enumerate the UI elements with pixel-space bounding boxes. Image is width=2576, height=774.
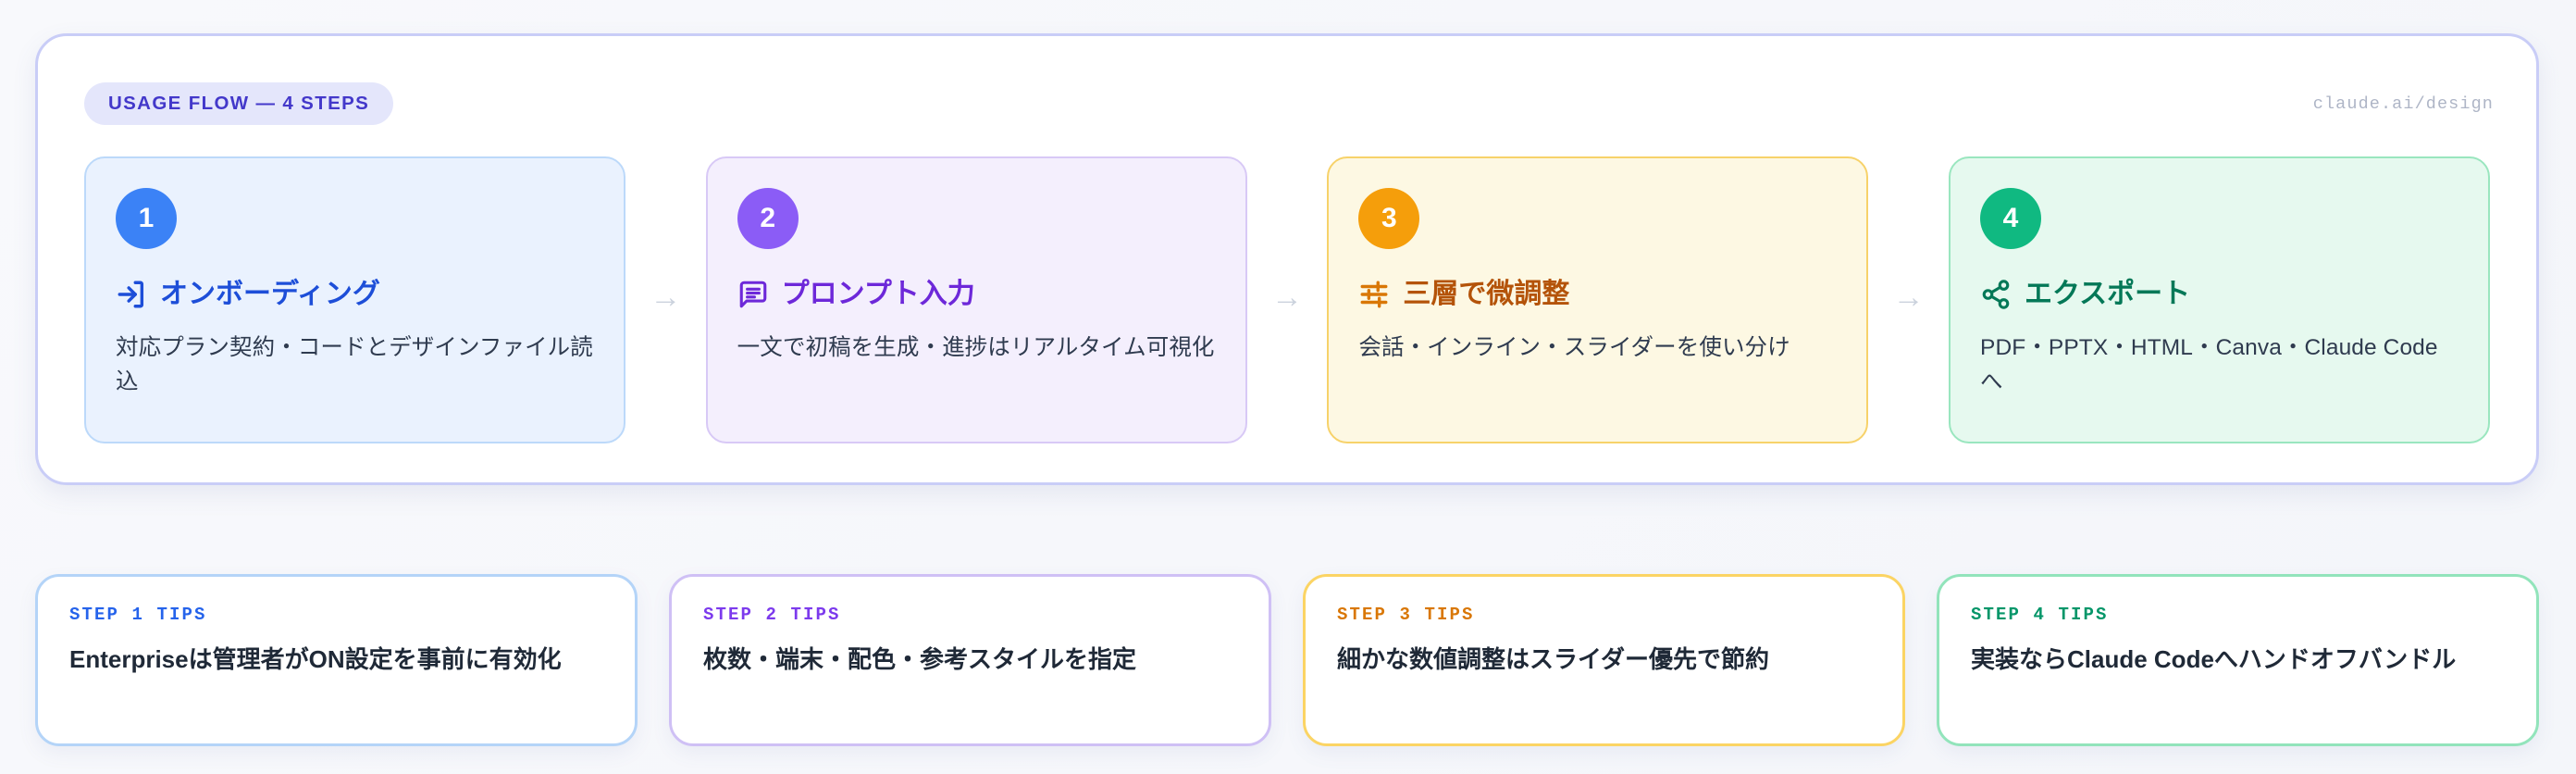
tip-text-4: 実装ならClaude Codeへハンドオフバンドル: [1971, 642, 2505, 678]
tip-card-3[interactable]: STEP 3 TIPS 細かな数値調整はスライダー優先で節約: [1303, 574, 1905, 746]
step-title-text-1: オンボーディング: [160, 277, 380, 312]
tip-label-2: STEP 2 TIPS: [703, 605, 1237, 625]
tip-card-1[interactable]: STEP 1 TIPS Enterpriseは管理者がON設定を事前に有効化: [35, 574, 638, 746]
step-title-row-1: オンボーディング: [116, 277, 594, 312]
step-number-badge-2: 2: [737, 188, 799, 249]
flow-arrow-2: →: [1247, 156, 1328, 443]
tip-label-1: STEP 1 TIPS: [69, 605, 603, 625]
message-square-icon: [737, 279, 769, 310]
step-description-4: PDF・PPTX・HTML・Canva・Claude Codeへ: [1980, 331, 2458, 401]
sliders-icon: [1358, 279, 1390, 310]
step-description-2: 一文で初稿を生成・進捗はリアルタイム可視化: [737, 331, 1216, 366]
usage-flow-infographic: USAGE FLOW — 4 STEPS claude.ai/design 1 …: [0, 0, 2576, 774]
step-description-3: 会話・インライン・スライダーを使い分け: [1358, 331, 1837, 366]
tip-card-2[interactable]: STEP 2 TIPS 枚数・端末・配色・参考スタイルを指定: [669, 574, 1271, 746]
tip-text-1: Enterpriseは管理者がON設定を事前に有効化: [69, 642, 603, 678]
arrow-right-icon: →: [1271, 281, 1303, 313]
flow-arrow-3: →: [1868, 156, 1949, 443]
step-title-text-4: エクスポート: [2025, 277, 2190, 312]
flow-arrow-1: →: [625, 156, 706, 443]
step-title-text-2: プロンプト入力: [782, 277, 975, 312]
tip-card-4[interactable]: STEP 4 TIPS 実装ならClaude Codeへハンドオフバンドル: [1937, 574, 2539, 746]
step-title-text-3: 三層で微調整: [1403, 277, 1569, 312]
step-number-badge-4: 4: [1980, 188, 2041, 249]
step-number-badge-1: 1: [116, 188, 177, 249]
tip-label-4: STEP 4 TIPS: [1971, 605, 2505, 625]
step-title-row-2: プロンプト入力: [737, 277, 1216, 312]
arrow-right-icon: →: [650, 281, 681, 313]
share-icon: [1980, 279, 2012, 310]
tips-row: STEP 1 TIPS Enterpriseは管理者がON設定を事前に有効化 S…: [35, 574, 2539, 746]
step-card-4[interactable]: 4 エクスポート PDF・PPTX・HTML・Canva・Claude Code…: [1949, 156, 2490, 443]
step-card-1[interactable]: 1 オンボーディング 対応プラン契約・コードとデザインファイル読込: [84, 156, 625, 443]
step-title-row-4: エクスポート: [1980, 277, 2458, 312]
tip-text-2: 枚数・端末・配色・参考スタイルを指定: [703, 642, 1237, 678]
usage-flow-panel: USAGE FLOW — 4 STEPS claude.ai/design 1 …: [35, 33, 2539, 485]
tip-label-3: STEP 3 TIPS: [1337, 605, 1871, 625]
arrow-right-icon: →: [1893, 281, 1925, 313]
step-card-2[interactable]: 2 プロンプト入力 一文で初稿を生成・進捗はリアルタイム可視化: [706, 156, 1247, 443]
panel-header: USAGE FLOW — 4 STEPS claude.ai/design: [84, 82, 2494, 125]
step-card-3[interactable]: 3 三層で微調整 会話・インライン・スライダーを使い: [1327, 156, 1868, 443]
step-card-row: 1 オンボーディング 対応プラン契約・コードとデザインファイル読込 →: [84, 156, 2490, 443]
log-in-icon: [116, 279, 147, 310]
source-watermark: claude.ai/design: [2313, 94, 2494, 114]
tip-text-3: 細かな数値調整はスライダー優先で節約: [1337, 642, 1871, 678]
step-description-1: 対応プラン契約・コードとデザインファイル読込: [116, 331, 594, 401]
usage-flow-badge: USAGE FLOW — 4 STEPS: [84, 82, 393, 125]
step-number-badge-3: 3: [1358, 188, 1419, 249]
step-title-row-3: 三層で微調整: [1358, 277, 1837, 312]
